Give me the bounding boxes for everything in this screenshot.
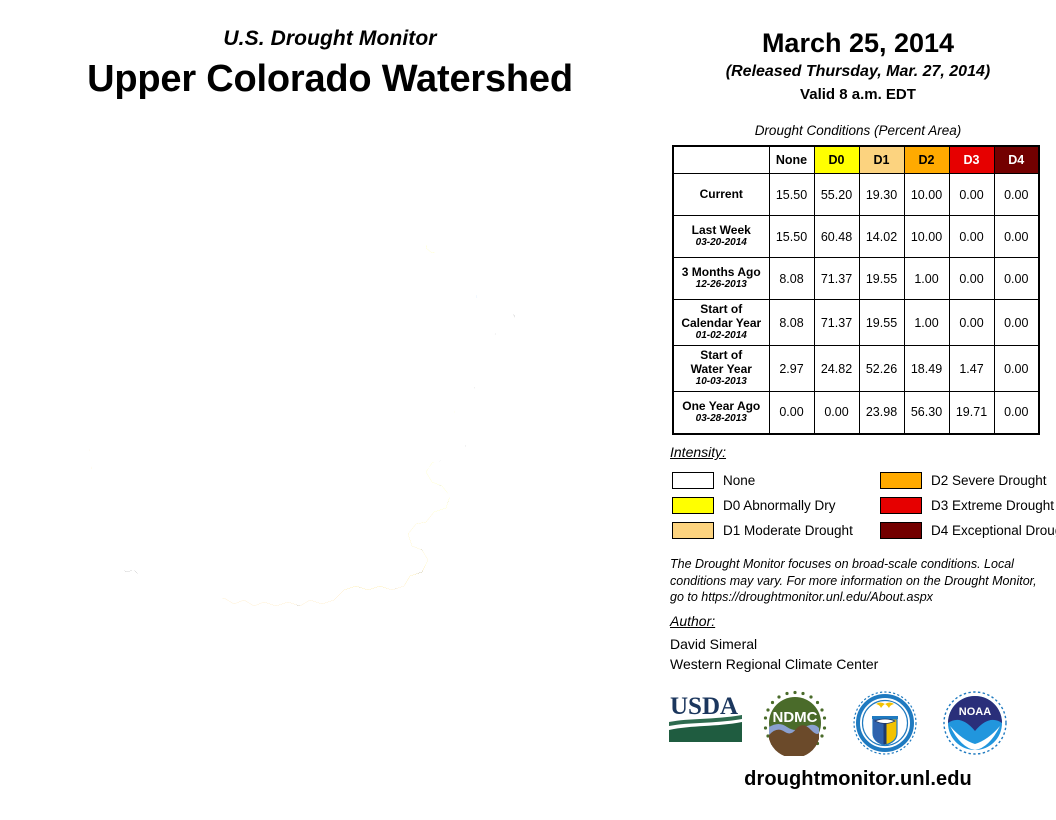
table-cell: 55.20	[814, 174, 859, 216]
table-cell: 2.97	[769, 346, 814, 392]
legend-item-d0[interactable]: D0 Abnormally Dry	[672, 493, 853, 518]
table-cell: 60.48	[814, 216, 859, 258]
table-cell: 0.00	[769, 392, 814, 434]
legend-column-right: D2 Severe DroughtD3 Extreme DroughtD4 Ex…	[880, 468, 1056, 543]
svg-text:NOAA: NOAA	[959, 706, 991, 718]
legend-swatch-d2	[880, 472, 922, 489]
table-column-header-none: None	[769, 146, 814, 174]
table-cell: 0.00	[994, 174, 1039, 216]
product-name: U.S. Drought Monitor	[0, 26, 660, 52]
table-cell: 0.00	[949, 216, 994, 258]
release-date: (Released Thursday, Mar. 27, 2014)	[660, 61, 1056, 82]
logo-row: USDA	[666, 690, 1056, 762]
date-block: March 25, 2014 (Released Thursday, Mar. …	[660, 28, 1056, 104]
table-cell: 1.00	[904, 300, 949, 346]
table-cell: 8.08	[769, 258, 814, 300]
ndmc-logo: NDMC	[760, 690, 830, 761]
table-cell: 14.02	[859, 216, 904, 258]
table-row-label: Last Week03-20-2014	[673, 216, 769, 258]
table-cell: 19.71	[949, 392, 994, 434]
table-cell: 0.00	[949, 300, 994, 346]
table-row-label: One Year Ago03-28-2013	[673, 392, 769, 434]
author-organization: Western Regional Climate Center	[670, 654, 878, 674]
title-block: U.S. Drought Monitor Upper Colorado Wate…	[0, 26, 660, 102]
author-block: David Simeral Western Regional Climate C…	[670, 634, 878, 674]
table-cell: 1.00	[904, 258, 949, 300]
table-cell: 56.30	[904, 392, 949, 434]
table-body: Current15.5055.2019.3010.000.000.00Last …	[673, 174, 1039, 434]
table-row-label: Current	[673, 174, 769, 216]
table-cell: 8.08	[769, 300, 814, 346]
row-label-date: 03-28-2013	[676, 413, 767, 425]
table-cell: 19.55	[859, 300, 904, 346]
noaa-logo: NOAA	[940, 690, 1010, 761]
legend-swatch-d1	[672, 522, 714, 539]
table-header-row: NoneD0D1D2D3D4	[673, 146, 1039, 174]
watershed-outline	[80, 130, 515, 606]
legend-label: D1 Moderate Drought	[723, 523, 853, 538]
table-cell: 0.00	[994, 216, 1039, 258]
table-cell: 71.37	[814, 300, 859, 346]
usda-logo: USDA	[668, 690, 744, 753]
row-label-line: Start of	[676, 303, 767, 317]
svg-text:NDMC: NDMC	[773, 709, 818, 726]
drought-area-D2-bottom	[253, 613, 440, 687]
table-column-header-d0: D0	[814, 146, 859, 174]
table-cell: 18.49	[904, 346, 949, 392]
table-column-header-d2: D2	[904, 146, 949, 174]
table-cell: 0.00	[994, 300, 1039, 346]
row-label-date: 10-03-2013	[676, 376, 767, 388]
table-cell: 71.37	[814, 258, 859, 300]
table-row: Start ofCalendar Year01-02-20148.0871.37…	[673, 300, 1039, 346]
table-cell: 0.00	[814, 392, 859, 434]
drought-map	[60, 120, 660, 820]
row-label-line: Calendar Year	[676, 317, 767, 331]
legend-column-left: NoneD0 Abnormally DryD1 Moderate Drought	[672, 468, 853, 543]
svg-text:USDA: USDA	[670, 693, 738, 720]
table-cell: 0.00	[994, 346, 1039, 392]
legend-swatch-none	[672, 472, 714, 489]
legend-label: D3 Extreme Drought	[931, 498, 1054, 513]
table-cell: 0.00	[994, 392, 1039, 434]
table-column-header-d4: D4	[994, 146, 1039, 174]
page-title: Upper Colorado Watershed	[0, 56, 660, 102]
row-label-line: Current	[676, 188, 767, 202]
table-cell: 52.26	[859, 346, 904, 392]
legend-item-none[interactable]: None	[672, 468, 853, 493]
table-cell: 15.50	[769, 216, 814, 258]
row-label-date: 03-20-2014	[676, 237, 767, 249]
legend-label: D4 Exceptional Drought	[931, 523, 1056, 538]
table-caption: Drought Conditions (Percent Area)	[660, 123, 1056, 138]
disclaimer-text: The Drought Monitor focuses on broad-sca…	[670, 556, 1050, 606]
legend-label: None	[723, 473, 755, 488]
legend-item-d2[interactable]: D2 Severe Drought	[880, 468, 1056, 493]
legend-swatch-d4	[880, 522, 922, 539]
legend-item-d4[interactable]: D4 Exceptional Drought	[880, 518, 1056, 543]
drought-conditions-table: NoneD0D1D2D3D4 Current15.5055.2019.3010.…	[672, 145, 1040, 435]
legend-title: Intensity:	[670, 444, 726, 460]
table-column-header-d1: D1	[859, 146, 904, 174]
legend-item-d1[interactable]: D1 Moderate Drought	[672, 518, 853, 543]
table-cell: 19.55	[859, 258, 904, 300]
row-label-line: 3 Months Ago	[676, 266, 767, 280]
legend-swatch-d3	[880, 497, 922, 514]
table-cell: 0.00	[949, 174, 994, 216]
table-cell: 24.82	[814, 346, 859, 392]
table-cell: 10.00	[904, 174, 949, 216]
author-name: David Simeral	[670, 634, 878, 654]
table-cell: 0.00	[949, 258, 994, 300]
table-cell: 0.00	[994, 258, 1039, 300]
drought-monitor-page: U.S. Drought Monitor Upper Colorado Wate…	[0, 0, 1056, 816]
row-label-date: 12-26-2013	[676, 279, 767, 291]
legend-label: D0 Abnormally Dry	[723, 498, 836, 513]
table-row-label: Start ofCalendar Year01-02-2014	[673, 300, 769, 346]
table-row: 3 Months Ago12-26-20138.0871.3719.551.00…	[673, 258, 1039, 300]
row-label-line: One Year Ago	[676, 400, 767, 414]
table-cell: 19.30	[859, 174, 904, 216]
table-corner-cell	[673, 146, 769, 174]
table-cell: 1.47	[949, 346, 994, 392]
table-cell: 10.00	[904, 216, 949, 258]
legend-item-d3[interactable]: D3 Extreme Drought	[880, 493, 1056, 518]
row-label-date: 01-02-2014	[676, 330, 767, 342]
table-column-header-d3: D3	[949, 146, 994, 174]
valid-time: Valid 8 a.m. EDT	[660, 85, 1056, 104]
table-cell: 23.98	[859, 392, 904, 434]
table-row: Last Week03-20-201415.5060.4814.0210.000…	[673, 216, 1039, 258]
table-row-label: 3 Months Ago12-26-2013	[673, 258, 769, 300]
table-row: Start ofWater Year10-03-20132.9724.8252.…	[673, 346, 1039, 392]
valid-date: March 25, 2014	[660, 28, 1056, 59]
author-label: Author:	[670, 613, 715, 629]
usdoc-logo	[850, 690, 920, 761]
legend-swatch-d0	[672, 497, 714, 514]
row-label-line: Start of	[676, 349, 767, 363]
table-row: Current15.5055.2019.3010.000.000.00	[673, 174, 1039, 216]
table-cell: 15.50	[769, 174, 814, 216]
row-label-line: Water Year	[676, 363, 767, 377]
table-row: One Year Ago03-28-20130.000.0023.9856.30…	[673, 392, 1039, 434]
table-row-label: Start ofWater Year10-03-2013	[673, 346, 769, 392]
site-url: droughtmonitor.unl.edu	[660, 768, 1056, 791]
row-label-line: Last Week	[676, 224, 767, 238]
legend-label: D2 Severe Drought	[931, 473, 1047, 488]
